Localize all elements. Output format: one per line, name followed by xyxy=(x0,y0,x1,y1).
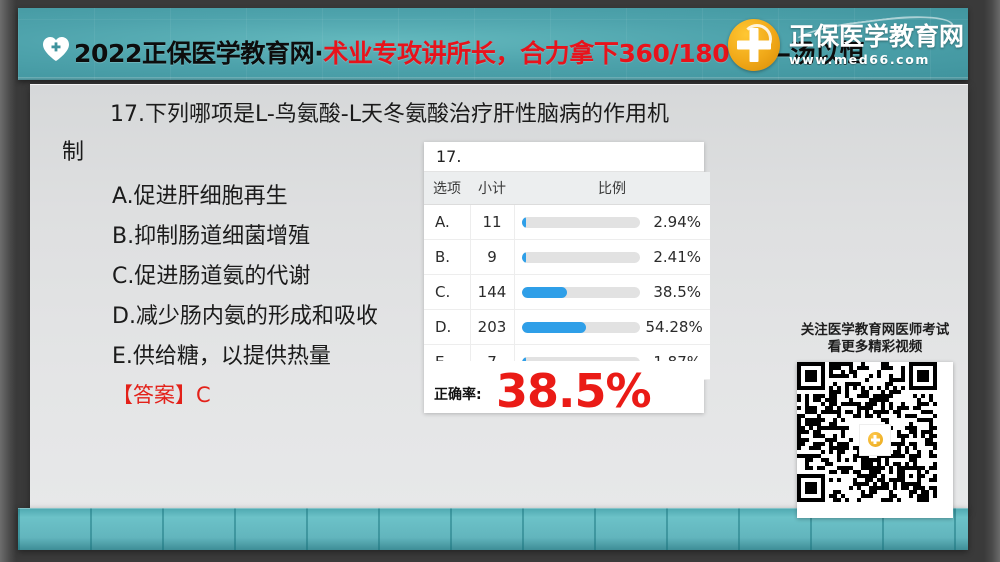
row-ratio-cell: 2.94% xyxy=(514,205,710,240)
option-e: E.供给糖，以提供热量 xyxy=(112,338,331,370)
table-row: B.92.41% xyxy=(424,240,710,275)
logo-text: 正保医学教育网 www.med66.com xyxy=(789,24,964,65)
row-count: 11 xyxy=(470,205,514,240)
qr-promo-block: 关注医学教育网医师考试 看更多精彩视频 xyxy=(793,322,957,518)
row-option: A. xyxy=(424,205,470,240)
qr-center-logo xyxy=(859,424,891,456)
qr-caption-line2: 看更多精彩视频 xyxy=(793,339,957,356)
header-title-highlight: 术业专攻讲所长，合力拿下360/180 xyxy=(323,39,729,68)
statistics-card: 17. 选项 小计 比例 A.112.94%B.92.41%C.14438.5%… xyxy=(424,142,704,413)
logo-arc-decoration xyxy=(742,24,772,54)
row-option: B. xyxy=(424,240,470,275)
ratio-bar-fill xyxy=(522,322,586,333)
brand-logo: 正保医学教育网 www.med66.com xyxy=(728,18,956,72)
ratio-bar-track xyxy=(522,252,640,263)
correct-rate-row: 正确率: 38.5% xyxy=(424,361,704,413)
qr-code-icon[interactable] xyxy=(797,362,953,518)
answer-label: 【答案】C xyxy=(112,379,211,409)
header-title-prefix: 2022正保医学教育网· xyxy=(74,39,323,68)
row-ratio-cell: 2.41% xyxy=(514,240,710,275)
ratio-percent-label: 38.5% xyxy=(640,283,702,301)
row-ratio-cell: 38.5% xyxy=(514,275,710,310)
stats-question-number: 17. xyxy=(424,142,704,172)
presentation-slide: 2022正保医学教育网·术业专攻讲所长，合力拿下360/180+——汤以恒 正保… xyxy=(0,0,1000,562)
column-header-option: 选项 xyxy=(424,172,470,205)
option-b: B.抑制肠道细菌增殖 xyxy=(112,218,310,250)
statistics-table-body: A.112.94%B.92.41%C.14438.5%D.20354.28%E.… xyxy=(424,205,710,380)
statistics-table: 选项 小计 比例 A.112.94%B.92.41%C.14438.5%D.20… xyxy=(424,172,710,380)
ratio-bar-fill xyxy=(522,217,526,228)
ratio-percent-label: 2.41% xyxy=(640,248,702,266)
heart-plus-icon xyxy=(42,36,70,62)
question-text-line2: 制 xyxy=(62,134,84,166)
column-header-ratio: 比例 xyxy=(514,172,710,205)
row-option: D. xyxy=(424,310,470,345)
option-d: D.减少肠内氨的形成和吸收 xyxy=(112,298,378,330)
table-row: D.20354.28% xyxy=(424,310,710,345)
option-a: A.促进肝细胞再生 xyxy=(112,178,288,210)
table-row: A.112.94% xyxy=(424,205,710,240)
option-c: C.促进肠道氨的代谢 xyxy=(112,258,310,290)
ratio-bar-track xyxy=(522,287,640,298)
logo-url: www.med66.com xyxy=(789,53,964,66)
row-count: 9 xyxy=(470,240,514,275)
column-header-count: 小计 xyxy=(470,172,514,205)
row-option: C. xyxy=(424,275,470,310)
logo-name: 正保医学教育网 xyxy=(789,24,964,50)
qr-center-logo-mark xyxy=(868,432,883,447)
table-row: C.14438.5% xyxy=(424,275,710,310)
table-header-row: 选项 小计 比例 xyxy=(424,172,710,205)
ratio-bar-track xyxy=(522,322,640,333)
row-count: 203 xyxy=(470,310,514,345)
header-banner: 2022正保医学教育网·术业专攻讲所长，合力拿下360/180+——汤以恒 正保… xyxy=(18,8,968,80)
ratio-bar-fill xyxy=(522,287,567,298)
question-text-line1: 17.下列哪项是L-鸟氨酸-L天冬氨酸治疗肝性脑病的作用机 xyxy=(110,96,669,128)
ratio-percent-label: 2.94% xyxy=(640,213,702,231)
ratio-percent-label: 54.28% xyxy=(640,318,703,336)
correct-rate-value: 38.5% xyxy=(496,368,651,414)
row-count: 144 xyxy=(470,275,514,310)
ratio-bar-fill xyxy=(522,252,526,263)
ratio-bar-track xyxy=(522,217,640,228)
medical-cross-circle-icon xyxy=(728,19,780,71)
correct-rate-label: 正确率: xyxy=(434,384,482,404)
row-ratio-cell: 54.28% xyxy=(514,310,710,345)
qr-caption-line1: 关注医学教育网医师考试 xyxy=(793,322,957,339)
